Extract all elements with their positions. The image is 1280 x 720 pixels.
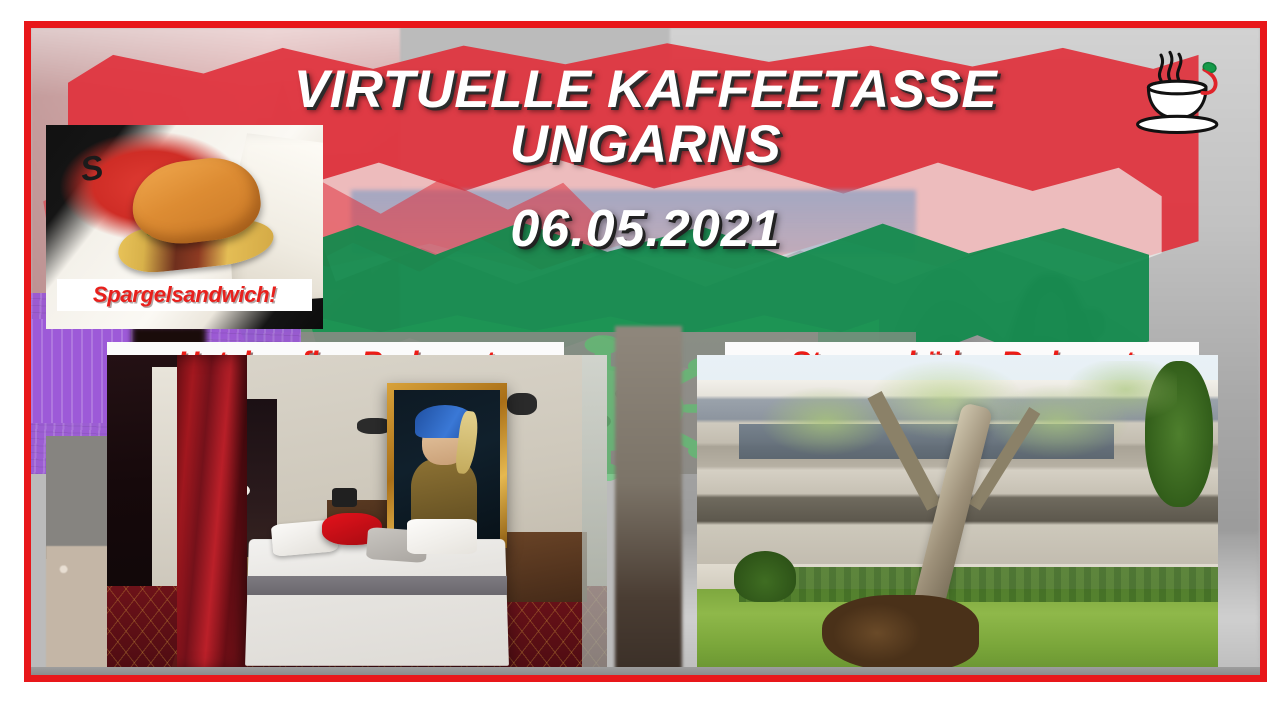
- title-line-1: VIRTUELLE KAFFEETASSE: [228, 64, 1064, 116]
- bottom-strip: [31, 667, 1260, 675]
- page-title: VIRTUELLE KAFFEETASSE UNGARNS: [228, 64, 1064, 171]
- hotel-bed-runner: [247, 576, 507, 595]
- hotel-room-photo: [107, 355, 607, 671]
- coffee-cup-icon: [1125, 42, 1233, 142]
- storm-bush: [734, 551, 797, 602]
- hotel-wall-sconce-right: [507, 393, 537, 415]
- hotel-mirror-edge: [582, 355, 607, 671]
- poster-frame: VIRTUELLE KAFFEETASSE UNGARNS 06.05.2021: [24, 21, 1267, 682]
- storm-damage-photo: [697, 355, 1218, 671]
- hotel-kettle: [332, 488, 357, 507]
- poster-stage: VIRTUELLE KAFFEETASSE UNGARNS 06.05.2021: [0, 0, 1280, 720]
- storm-uprooted-base: [822, 595, 978, 671]
- hotel-red-curtain: [177, 355, 247, 671]
- status-badge: Spargelsandwich!: [57, 279, 313, 311]
- storm-hedge: [739, 567, 1218, 602]
- poster-canvas: VIRTUELLE KAFFEETASSE UNGARNS 06.05.2021: [31, 28, 1260, 675]
- hotel-pillow-white-right: [407, 519, 477, 554]
- brown-gap-column: [615, 326, 683, 675]
- painting-canvas: [394, 390, 500, 541]
- title-line-2: UNGARNS: [228, 119, 1064, 171]
- sandwich-photo: S Spargelsandwich!: [46, 125, 324, 329]
- event-date: 06.05.2021: [301, 199, 989, 259]
- sandwich-label-text: Spargelsandwich!: [93, 282, 276, 307]
